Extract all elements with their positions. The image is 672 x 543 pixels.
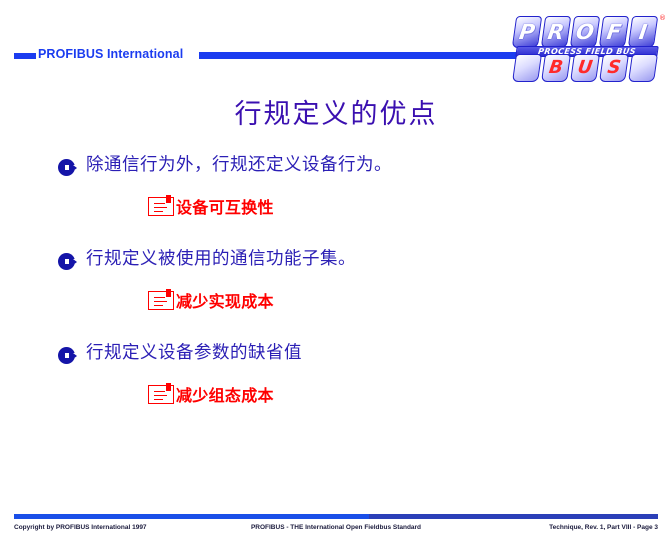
bullet-row: 行规定义设备参数的缺省值: [58, 342, 618, 368]
sub-text: 减少组态成本: [174, 382, 274, 406]
bullet-text: 除通信行为外，行规还定义设备行为。: [80, 154, 392, 176]
document-icon: [148, 197, 174, 216]
footer-pagination: Technique, Rev. 1, Part VIII - Page 3: [549, 524, 658, 531]
document-icon: [148, 291, 174, 310]
slide-footer: Copyright by PROFIBUS International 1997…: [0, 512, 672, 543]
document-icon: [148, 385, 174, 404]
sub-text: 设备可互换性: [174, 194, 274, 218]
sub-text: 减少实现成本: [174, 288, 274, 312]
footer-rule-left: [14, 514, 369, 519]
sub-row: 减少组态成本: [58, 382, 618, 406]
arrow-circle-icon: [58, 344, 80, 368]
footer-rule-right: [369, 514, 658, 519]
arrow-circle-icon: [58, 250, 80, 274]
bullet-block-1: 除通信行为外，行规还定义设备行为。 设备可互换性: [58, 154, 618, 218]
bullet-block-3: 行规定义设备参数的缺省值 减少组态成本: [58, 342, 618, 406]
bullet-block-2: 行规定义被使用的通信功能子集。 减少实现成本: [58, 248, 618, 312]
bullet-row: 除通信行为外，行规还定义设备行为。: [58, 154, 618, 180]
sub-row: 设备可互换性: [58, 194, 618, 218]
arrow-circle-icon: [58, 156, 80, 180]
bullet-text: 行规定义设备参数的缺省值: [80, 342, 302, 364]
sub-row: 减少实现成本: [58, 288, 618, 312]
slide-body: 除通信行为外，行规还定义设备行为。 设备可互换性 行规定义被使用的通信功能子集。…: [0, 0, 672, 543]
bullet-text: 行规定义被使用的通信功能子集。: [80, 248, 356, 270]
bullet-row: 行规定义被使用的通信功能子集。: [58, 248, 618, 274]
